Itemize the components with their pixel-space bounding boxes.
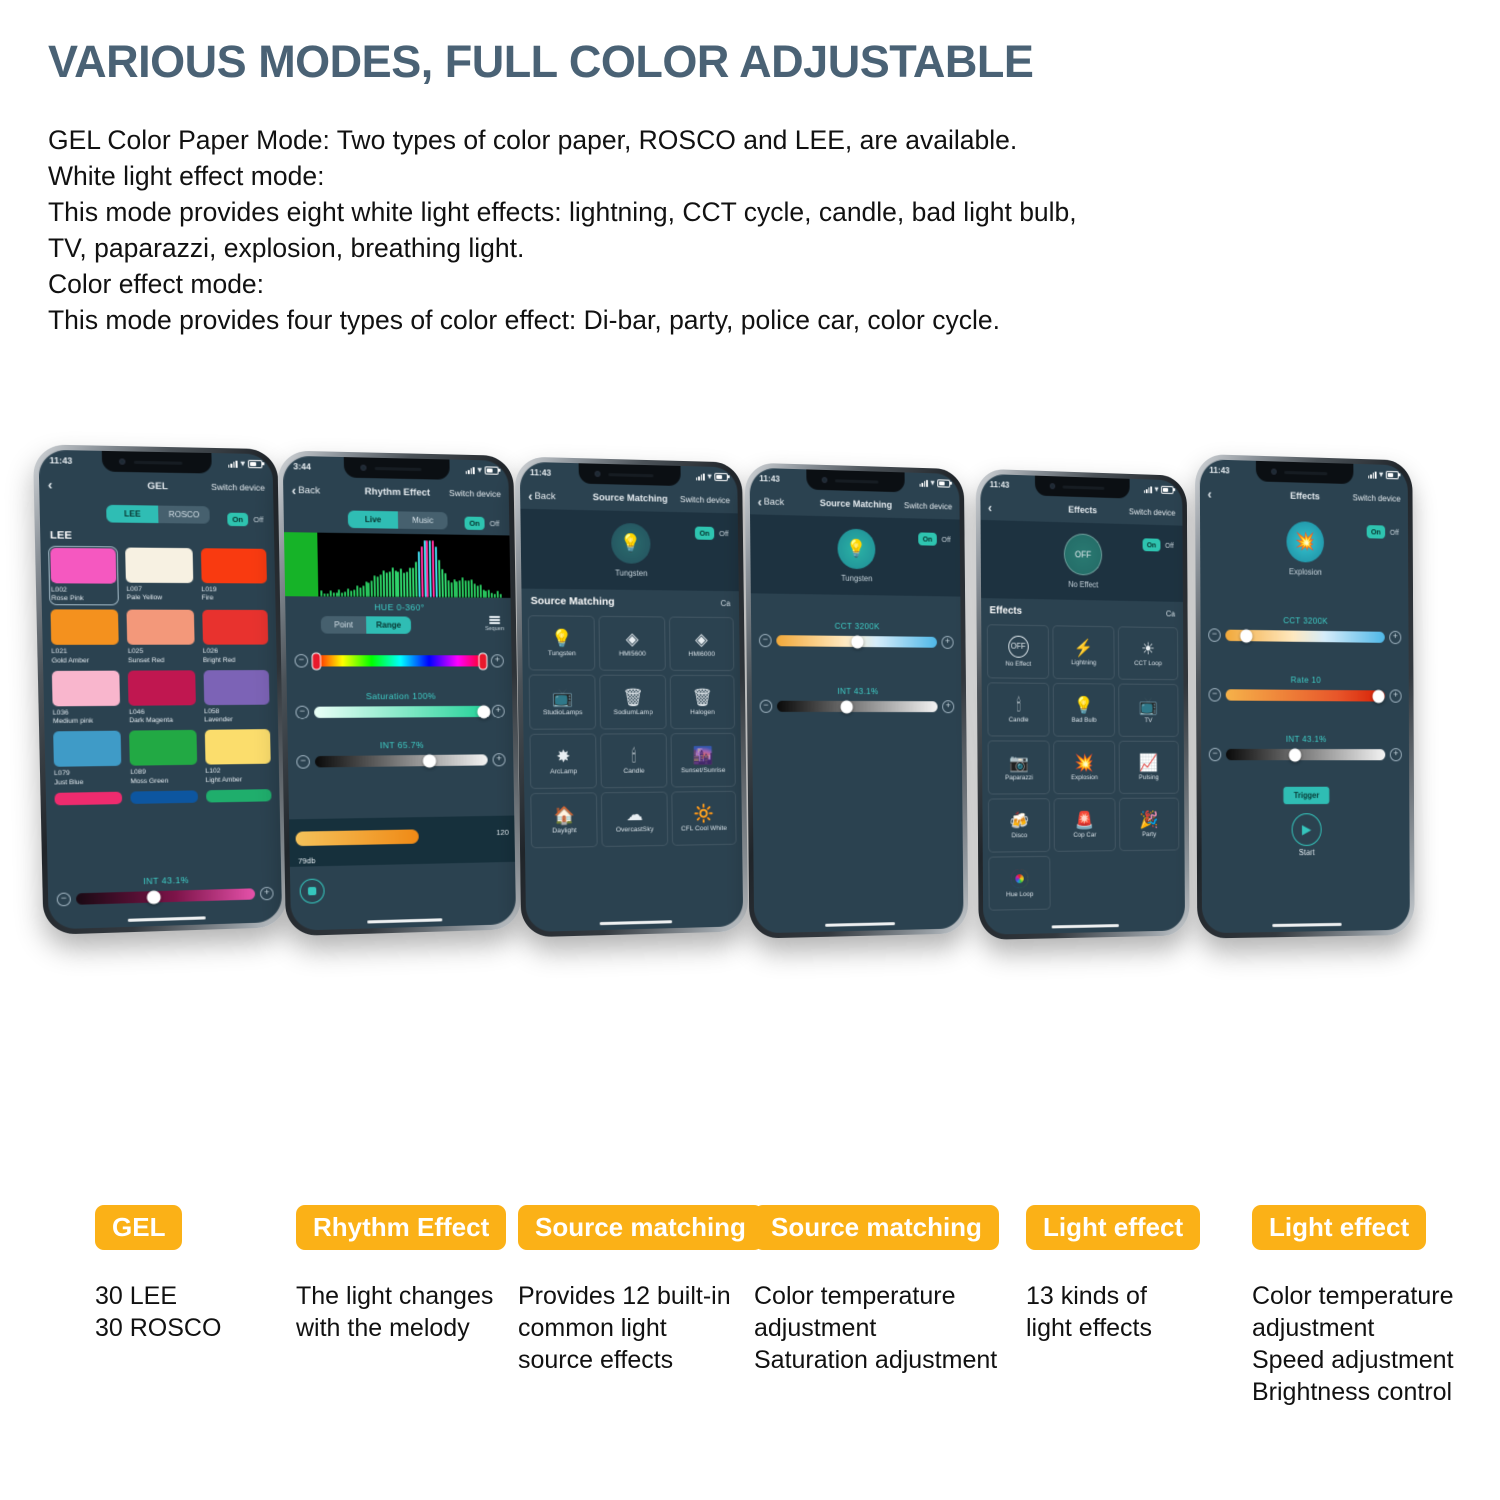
rate-slider-track[interactable]: [1226, 689, 1385, 701]
spectrum-bar: [394, 571, 396, 597]
spectrum-bar: [415, 562, 418, 598]
swatch-L025[interactable]: L025Sunset Red: [127, 610, 195, 665]
intro-line-3: This mode provides eight white light eff…: [48, 194, 1348, 230]
toggle-off[interactable]: Off: [487, 517, 503, 530]
caption-line: adjustment: [754, 1312, 999, 1344]
spectrum-bar: [353, 590, 355, 597]
swatch-L007[interactable]: L007Pale Yellow: [125, 548, 193, 606]
minus-icon[interactable]: −: [294, 654, 308, 667]
status-time: 11:43: [759, 473, 780, 484]
status-indicators: ▾: [228, 459, 263, 468]
swatch-code: L007: [126, 586, 193, 595]
signal-icon: [1144, 486, 1152, 493]
spectrum-bar: [450, 582, 452, 597]
source-item-hmi6000[interactable]: ◈HMI6000: [669, 617, 735, 672]
int-slider-track[interactable]: [315, 754, 488, 767]
intro-line-6: This mode provides four types of color e…: [48, 302, 1348, 338]
spectrum-bar: [356, 586, 358, 597]
swatch-name: Medium pink: [53, 717, 121, 726]
toggle-on[interactable]: On: [464, 517, 485, 530]
stop-button[interactable]: [299, 878, 324, 903]
swatch-L019[interactable]: L019Fire: [201, 548, 268, 605]
spectrum-bar: [326, 593, 328, 597]
effect-item-party[interactable]: 🎉Party: [1119, 798, 1180, 852]
notch: [102, 451, 212, 474]
back-button[interactable]: ‹: [48, 477, 53, 491]
cct-slider-label: CCT 3200K: [1208, 614, 1401, 627]
caption-badge: GEL: [95, 1205, 182, 1250]
plus-icon[interactable]: +: [1389, 631, 1401, 644]
minus-icon[interactable]: −: [760, 700, 773, 713]
tube-lamp-icon: 🗑: [622, 688, 643, 705]
swatch-L026[interactable]: L026Bright Red: [202, 610, 269, 665]
toggle-on[interactable]: On: [227, 513, 248, 527]
cct-slider-row[interactable]: − +: [1208, 628, 1401, 644]
switch-device-button[interactable]: Switch device: [211, 482, 265, 493]
screen-source-grid: 11:43 ▾ ‹Back Source Matching Switch dev…: [520, 462, 744, 933]
minus-icon[interactable]: −: [1209, 688, 1221, 701]
minus-icon[interactable]: −: [57, 892, 71, 906]
caption-line: Speed adjustment: [1252, 1344, 1454, 1376]
source-item-daylight[interactable]: 🏠Daylight: [530, 792, 598, 848]
effect-item-tv[interactable]: 📺TV: [1118, 684, 1179, 737]
swatch-L089[interactable]: L089Moss Green: [129, 730, 197, 786]
caption-source-matching-1: Source matching Provides 12 built-in com…: [518, 1205, 763, 1376]
hue-slider-track[interactable]: [313, 655, 486, 666]
swatch-name: Just Blue: [54, 778, 122, 788]
champagne-icon: 🍻: [1009, 812, 1029, 829]
source-item-sunset[interactable]: 🌆Sunset/Sunrise: [670, 733, 736, 788]
start-button[interactable]: ▶: [1292, 813, 1322, 846]
item-label: Pulsing: [1139, 774, 1159, 781]
wifi-icon: ▾: [708, 473, 712, 481]
item-label: Tungsten: [548, 650, 576, 657]
gel-swatch-grid: L002Rose Pink L007Pale Yellow L019Fire L…: [49, 547, 271, 805]
intro-line-2: White light effect mode:: [48, 158, 1348, 194]
plus-icon[interactable]: +: [492, 705, 505, 718]
source-item-tungsten[interactable]: 💡Tungsten: [528, 615, 596, 670]
caption-line: source effects: [518, 1344, 763, 1376]
bad-bulb-icon: 💡: [1074, 697, 1093, 714]
spectrum-bar: [479, 585, 481, 598]
hue-mode-control[interactable]: Point Range: [321, 616, 411, 634]
toggle-off[interactable]: Off: [1162, 539, 1176, 552]
spectrum-bar: [341, 592, 343, 596]
spectrum-bar: [476, 585, 478, 597]
minus-icon[interactable]: −: [1208, 628, 1220, 642]
wifi-icon: ▾: [1155, 486, 1159, 494]
swatch-name: Moss Green: [130, 777, 197, 787]
source-item-arclamp[interactable]: ✸ArcLamp: [529, 734, 597, 789]
source-item-studiolamps[interactable]: 📺StudioLamps: [529, 675, 597, 730]
chevron-left-icon: ‹: [291, 483, 296, 497]
hue-label: HUE 0-360°: [285, 601, 511, 613]
int-slider-knob[interactable]: [423, 754, 436, 767]
item-label: Explosion: [1071, 774, 1098, 781]
back-button[interactable]: ‹Back: [528, 489, 556, 503]
power-toggle[interactable]: On Off: [1366, 525, 1401, 539]
hue-slider-row[interactable]: − +: [294, 654, 503, 667]
toggle-off[interactable]: Off: [939, 533, 954, 546]
effect-item-no-effect[interactable]: OFFNo Effect: [987, 624, 1050, 679]
spectrum-bar: [371, 581, 373, 597]
hue-range-start-knob[interactable]: [312, 652, 322, 670]
caption-line: Saturation adjustment: [754, 1344, 999, 1376]
status-time: 11:43: [1209, 465, 1229, 476]
swatch-code: L002: [51, 586, 117, 595]
fresnel-icon: ◈: [626, 630, 639, 647]
spectrum-bar: [488, 589, 490, 598]
status-indicators: ▾: [696, 472, 728, 481]
saturation-slider-row[interactable]: − +: [295, 705, 504, 719]
power-toggle[interactable]: On Off: [1142, 538, 1176, 552]
source-item-halogen[interactable]: 🗑Halogen: [669, 675, 735, 729]
plus-icon[interactable]: +: [1390, 689, 1402, 702]
screen-effects-grid: 11:43 ▾ ‹ Effects Switch device OFF No E…: [980, 474, 1185, 935]
item-label: Sunset/Sunrise: [681, 766, 726, 773]
spectrum-bar: [359, 587, 361, 596]
caption-line: The light changes: [296, 1280, 506, 1312]
camera-icon: 📷: [1009, 754, 1029, 771]
chevron-left-icon: ‹: [988, 501, 992, 514]
swatch-row5-1[interactable]: [54, 792, 122, 806]
status-time: 11:43: [990, 479, 1010, 490]
signal-icon: [696, 473, 705, 480]
plus-icon[interactable]: +: [941, 636, 953, 649]
notch: [1035, 476, 1130, 499]
caption-text: Color temperature adjustment Saturation …: [754, 1280, 999, 1376]
segment-music[interactable]: Music: [398, 511, 448, 529]
swatch-color: [127, 610, 194, 645]
caption-badge: Source matching: [754, 1205, 999, 1250]
spectrum-bar: [500, 594, 502, 598]
caption-light-effect-1: Light effect 13 kinds of light effects: [1026, 1205, 1200, 1344]
back-button[interactable]: ‹Back: [291, 483, 320, 497]
spectrum-bar: [482, 589, 484, 597]
int-slider-track[interactable]: [1226, 749, 1385, 760]
toggle-off[interactable]: Off: [716, 527, 731, 540]
int-slider-group: INT 43.1% − +: [759, 686, 954, 714]
nav-title: GEL: [147, 480, 168, 492]
back-label: Back: [534, 490, 555, 502]
hero-preview: 💡 Tungsten: [520, 509, 739, 592]
int-slider-group: INT 43.1% − +: [1209, 733, 1402, 761]
home-indicator: [825, 922, 895, 927]
minus-icon[interactable]: −: [296, 755, 310, 769]
effect-item-explosion[interactable]: 💥Explosion: [1053, 741, 1115, 795]
plus-icon[interactable]: +: [492, 753, 505, 766]
hero-label: Explosion: [1289, 567, 1322, 577]
bulb-icon: 💡: [551, 629, 572, 646]
plus-icon[interactable]: +: [260, 887, 274, 901]
swatch-L046[interactable]: L046Dark Magenta: [128, 670, 196, 726]
int-slider-row[interactable]: − +: [57, 887, 274, 907]
sequence-label: Sequen: [485, 626, 504, 632]
item-label: Party: [1142, 831, 1156, 838]
effect-item-hue-loop[interactable]: Hue Loop: [988, 856, 1051, 911]
cct-slider-track[interactable]: [776, 635, 937, 648]
swatch-L036[interactable]: L036Medium pink: [52, 671, 121, 727]
play-icon: ▶: [1302, 821, 1311, 837]
caption-line: Brightness control: [1252, 1376, 1454, 1408]
sequence-button[interactable]: Sequen: [485, 616, 504, 632]
toggle-on[interactable]: On: [1366, 525, 1385, 539]
swatch-color: [54, 792, 122, 806]
spectrum-bar: [362, 586, 364, 597]
toggle-on[interactable]: On: [695, 527, 715, 540]
swatch-color: [131, 790, 198, 804]
swatch-row5-3[interactable]: [206, 789, 272, 802]
swatch-L102[interactable]: L102Light Amber: [204, 729, 271, 785]
back-button[interactable]: ‹: [988, 501, 992, 514]
toggle-off[interactable]: Off: [250, 513, 267, 526]
cct-slider-track[interactable]: [1225, 630, 1384, 643]
nav-title: Source Matching: [820, 497, 892, 510]
power-toggle[interactable]: On Off: [464, 517, 502, 531]
caption-badge: Light effect: [1252, 1205, 1426, 1250]
mode-segmented-control[interactable]: Live Music: [348, 510, 448, 529]
segment-range[interactable]: Range: [366, 616, 411, 634]
section-title: Source Matching: [531, 595, 615, 608]
front-camera-icon: [822, 477, 828, 483]
earpiece-speaker: [608, 473, 653, 478]
wifi-icon: ▾: [478, 466, 482, 474]
swatch-L079[interactable]: L079Just Blue: [53, 731, 122, 787]
effects-grid: OFFNo Effect ⚡Lightning ☀CCT Loop 🕯Candl…: [987, 624, 1180, 910]
effect-item-cop-car[interactable]: 🚨Cop Car: [1054, 798, 1116, 852]
item-label: Lightning: [1071, 659, 1096, 666]
segment-live[interactable]: Live: [348, 510, 398, 528]
status-time: 11:43: [49, 455, 72, 466]
swatch-color: [52, 671, 121, 707]
effect-item-disco[interactable]: 🍻Disco: [988, 798, 1051, 852]
color-wheel-icon: [1011, 869, 1029, 888]
hero-preview: 💥 Explosion: [1200, 507, 1408, 591]
item-label: Candle: [1009, 716, 1029, 723]
nav-title: Effects: [1068, 504, 1097, 516]
source-item-hmi5600[interactable]: ◈HMI5600: [599, 616, 666, 671]
brand-segmented-control[interactable]: LEE ROSCO: [106, 505, 210, 524]
rate-slider-row[interactable]: − +: [1209, 688, 1402, 703]
saturation-slider-knob[interactable]: [477, 705, 490, 718]
bulb-icon: 💡: [611, 523, 651, 564]
candle-icon: 🕯: [631, 747, 636, 764]
status-bar: 11:43 ▾: [520, 462, 738, 488]
effect-item-paparazzi[interactable]: 📷Paparazzi: [988, 740, 1051, 794]
int-slider-label: INT 65.7%: [296, 739, 505, 751]
item-label: CFL Cool White: [681, 824, 727, 832]
status-bar: 11:43 ▾: [750, 468, 960, 494]
source-item-cfl[interactable]: 🔆CFL Cool White: [671, 791, 737, 846]
status-bar: 3:44 ▾: [283, 456, 509, 481]
back-label: Back: [298, 484, 320, 496]
swatch-L002[interactable]: L002Rose Pink: [49, 547, 118, 605]
captions-row: GEL 30 LEE 30 ROSCO Rhythm Effect The li…: [0, 1205, 1500, 1465]
swatch-name: Rose Pink: [51, 595, 117, 604]
back-button[interactable]: ‹: [1208, 487, 1212, 501]
swatch-name: Bright Red: [203, 656, 269, 665]
minus-icon[interactable]: −: [1209, 748, 1221, 761]
bulb-icon: 💡: [837, 529, 875, 570]
int-slider-track[interactable]: [777, 701, 938, 712]
source-item-sodiumlamp[interactable]: 🗑SodiumLamp: [600, 675, 667, 730]
int-slider-row[interactable]: − +: [296, 753, 505, 769]
spectrum-bar: [385, 572, 387, 597]
effect-item-candle[interactable]: 🕯Candle: [987, 682, 1050, 736]
segment-point[interactable]: Point: [321, 616, 367, 634]
switch-device-button[interactable]: Switch device: [904, 500, 952, 511]
saturation-slider-track[interactable]: [314, 706, 487, 718]
power-toggle[interactable]: On Off: [227, 513, 267, 527]
battery-icon: [1161, 486, 1174, 495]
front-camera-icon: [1271, 468, 1277, 474]
spectrum-bar: [335, 593, 337, 597]
signal-icon: [919, 479, 928, 486]
hero-preview: 💡 Tungsten: [750, 514, 960, 596]
spectrum-bar: [417, 551, 420, 597]
swatch-code: L026: [203, 648, 269, 657]
int-slider-knob[interactable]: [147, 890, 161, 904]
stop-icon: [308, 887, 316, 895]
cct-loop-icon: ☀: [1141, 640, 1155, 657]
hue-range-end-knob[interactable]: [478, 652, 487, 669]
signal-icon: [228, 460, 238, 467]
toggle-on[interactable]: On: [1142, 538, 1160, 551]
spectrum-bar: [344, 592, 346, 597]
phone-gel: 11:43 ▾ ‹ GEL Switch device LEE ROSCO On…: [33, 444, 288, 935]
back-button[interactable]: ‹Back: [758, 495, 785, 509]
hero-label: Tungsten: [615, 568, 648, 578]
cfl-icon: 🔆: [694, 805, 715, 822]
switch-device-button[interactable]: Switch device: [449, 488, 501, 499]
minus-icon[interactable]: −: [759, 634, 772, 647]
swatch-color: [206, 789, 272, 802]
cct-slider-row[interactable]: − +: [759, 634, 954, 649]
spectrum-bar: [473, 583, 475, 597]
chevron-left-icon: ‹: [1208, 487, 1212, 501]
int-slider-group: INT 65.7% − +: [296, 739, 506, 769]
caption-text: Provides 12 built-in common light source…: [518, 1280, 763, 1376]
spectrum-bar: [380, 575, 382, 597]
swatch-L021[interactable]: L021Gold Amber: [51, 610, 120, 666]
spectrum-bar: [420, 546, 423, 597]
int-slider-knob[interactable]: [1289, 748, 1301, 761]
page-title: VARIOUS MODES, FULL COLOR ADJUSTABLE: [48, 36, 1033, 88]
switch-device-button[interactable]: Switch device: [1129, 506, 1176, 517]
swatch-code: L079: [54, 769, 122, 779]
caption-line: Color temperature: [1252, 1280, 1454, 1312]
int-slider-row[interactable]: − +: [760, 700, 955, 713]
explosion-icon: 💥: [1286, 521, 1324, 563]
nav-title: Source Matching: [593, 492, 668, 505]
caption-line: adjustment: [1252, 1312, 1454, 1344]
swatch-color: [125, 548, 192, 584]
camera-link[interactable]: Ca: [1166, 609, 1175, 618]
notch: [1256, 461, 1354, 484]
home-indicator: [128, 916, 206, 922]
caption-text: 30 LEE 30 ROSCO: [95, 1280, 221, 1344]
swatch-name: Lavender: [204, 716, 270, 725]
swatch-name: Dark Magenta: [129, 717, 196, 726]
swatch-name: Sunset Red: [128, 657, 195, 666]
switch-device-button[interactable]: Switch device: [680, 494, 730, 505]
spectrum-bar: [397, 571, 399, 597]
cct-slider-knob[interactable]: [851, 635, 863, 648]
trigger-button[interactable]: Trigger: [1283, 787, 1329, 804]
signal-icon: [465, 466, 474, 473]
item-label: Hue Loop: [1006, 890, 1033, 897]
source-item-overcastsky[interactable]: ☁OvercastSky: [601, 792, 668, 847]
hero-label: Tungsten: [841, 574, 872, 584]
nav-bar: ‹Back Source Matching Switch device: [520, 482, 738, 513]
item-label: ArcLamp: [550, 768, 577, 775]
plus-icon[interactable]: +: [1390, 748, 1402, 761]
toggle-on[interactable]: On: [918, 532, 937, 545]
effect-item-pulsing[interactable]: 📈Pulsing: [1118, 741, 1179, 794]
int-slider-knob[interactable]: [841, 700, 853, 713]
segment-rosco[interactable]: ROSCO: [158, 506, 210, 524]
spectrum-bar: [323, 593, 325, 597]
cct-slider-knob[interactable]: [1240, 629, 1252, 643]
db-label: 79db: [298, 856, 315, 866]
minus-icon[interactable]: −: [295, 706, 309, 719]
effect-item-lightning[interactable]: ⚡Lightning: [1053, 625, 1115, 679]
spectrum-bar: [491, 593, 493, 598]
level-meter: [284, 532, 318, 596]
plus-icon[interactable]: +: [491, 654, 504, 667]
spectrum-bar: [329, 590, 331, 597]
int-slider-track[interactable]: [76, 888, 255, 904]
tv-icon: 📺: [1139, 697, 1158, 714]
effect-item-cct-loop[interactable]: ☀CCT Loop: [1118, 626, 1179, 680]
power-toggle[interactable]: On Off: [695, 527, 732, 541]
plus-icon[interactable]: +: [942, 700, 954, 713]
wifi-icon: ▾: [241, 460, 245, 468]
nav-title: Rhythm Effect: [365, 486, 431, 499]
switch-device-button[interactable]: Switch device: [1353, 492, 1401, 503]
swatch-row5-2[interactable]: [131, 790, 198, 804]
swatch-L058[interactable]: L058Lavender: [203, 670, 270, 725]
spectrum-bar: [388, 571, 390, 597]
screen-effects-sliders: 11:43 ▾ ‹ Effects Switch device 💥 Explos…: [1200, 459, 1410, 933]
arc-lamp-icon: ✸: [556, 747, 570, 764]
item-label: Cop Car: [1073, 831, 1096, 838]
rate-slider-knob[interactable]: [1373, 689, 1385, 702]
fresnel-icon: ◈: [695, 630, 708, 647]
effect-item-bad-bulb[interactable]: 💡Bad Bulb: [1053, 683, 1115, 737]
front-camera-icon: [595, 471, 601, 477]
toggle-off[interactable]: Off: [1387, 526, 1402, 539]
status-bar: 11:43 ▾: [1200, 459, 1408, 486]
caption-text: The light changes with the melody: [296, 1280, 506, 1344]
caption-line: 30 LEE: [95, 1280, 221, 1312]
brand-label: LEE: [50, 529, 72, 542]
caption-line: common light: [518, 1312, 763, 1344]
chevron-left-icon: ‹: [48, 477, 53, 491]
power-toggle[interactable]: On Off: [918, 532, 954, 546]
int-slider-row[interactable]: − +: [1209, 748, 1402, 761]
source-item-candle[interactable]: 🕯Candle: [600, 733, 667, 788]
segment-lee[interactable]: LEE: [106, 505, 158, 523]
item-label: OvercastSky: [616, 825, 654, 833]
item-label: Disco: [1012, 832, 1028, 839]
camera-link[interactable]: Ca: [721, 599, 731, 608]
audio-spectrum-visualizer: [284, 532, 511, 598]
item-label: Halogen: [690, 708, 714, 715]
screen-rhythm: 3:44 ▾ ‹Back Rhythm Effect Switch device…: [283, 456, 517, 931]
status-bar: 11:43 ▾: [980, 474, 1182, 501]
cloud-icon: ☁: [626, 805, 643, 822]
